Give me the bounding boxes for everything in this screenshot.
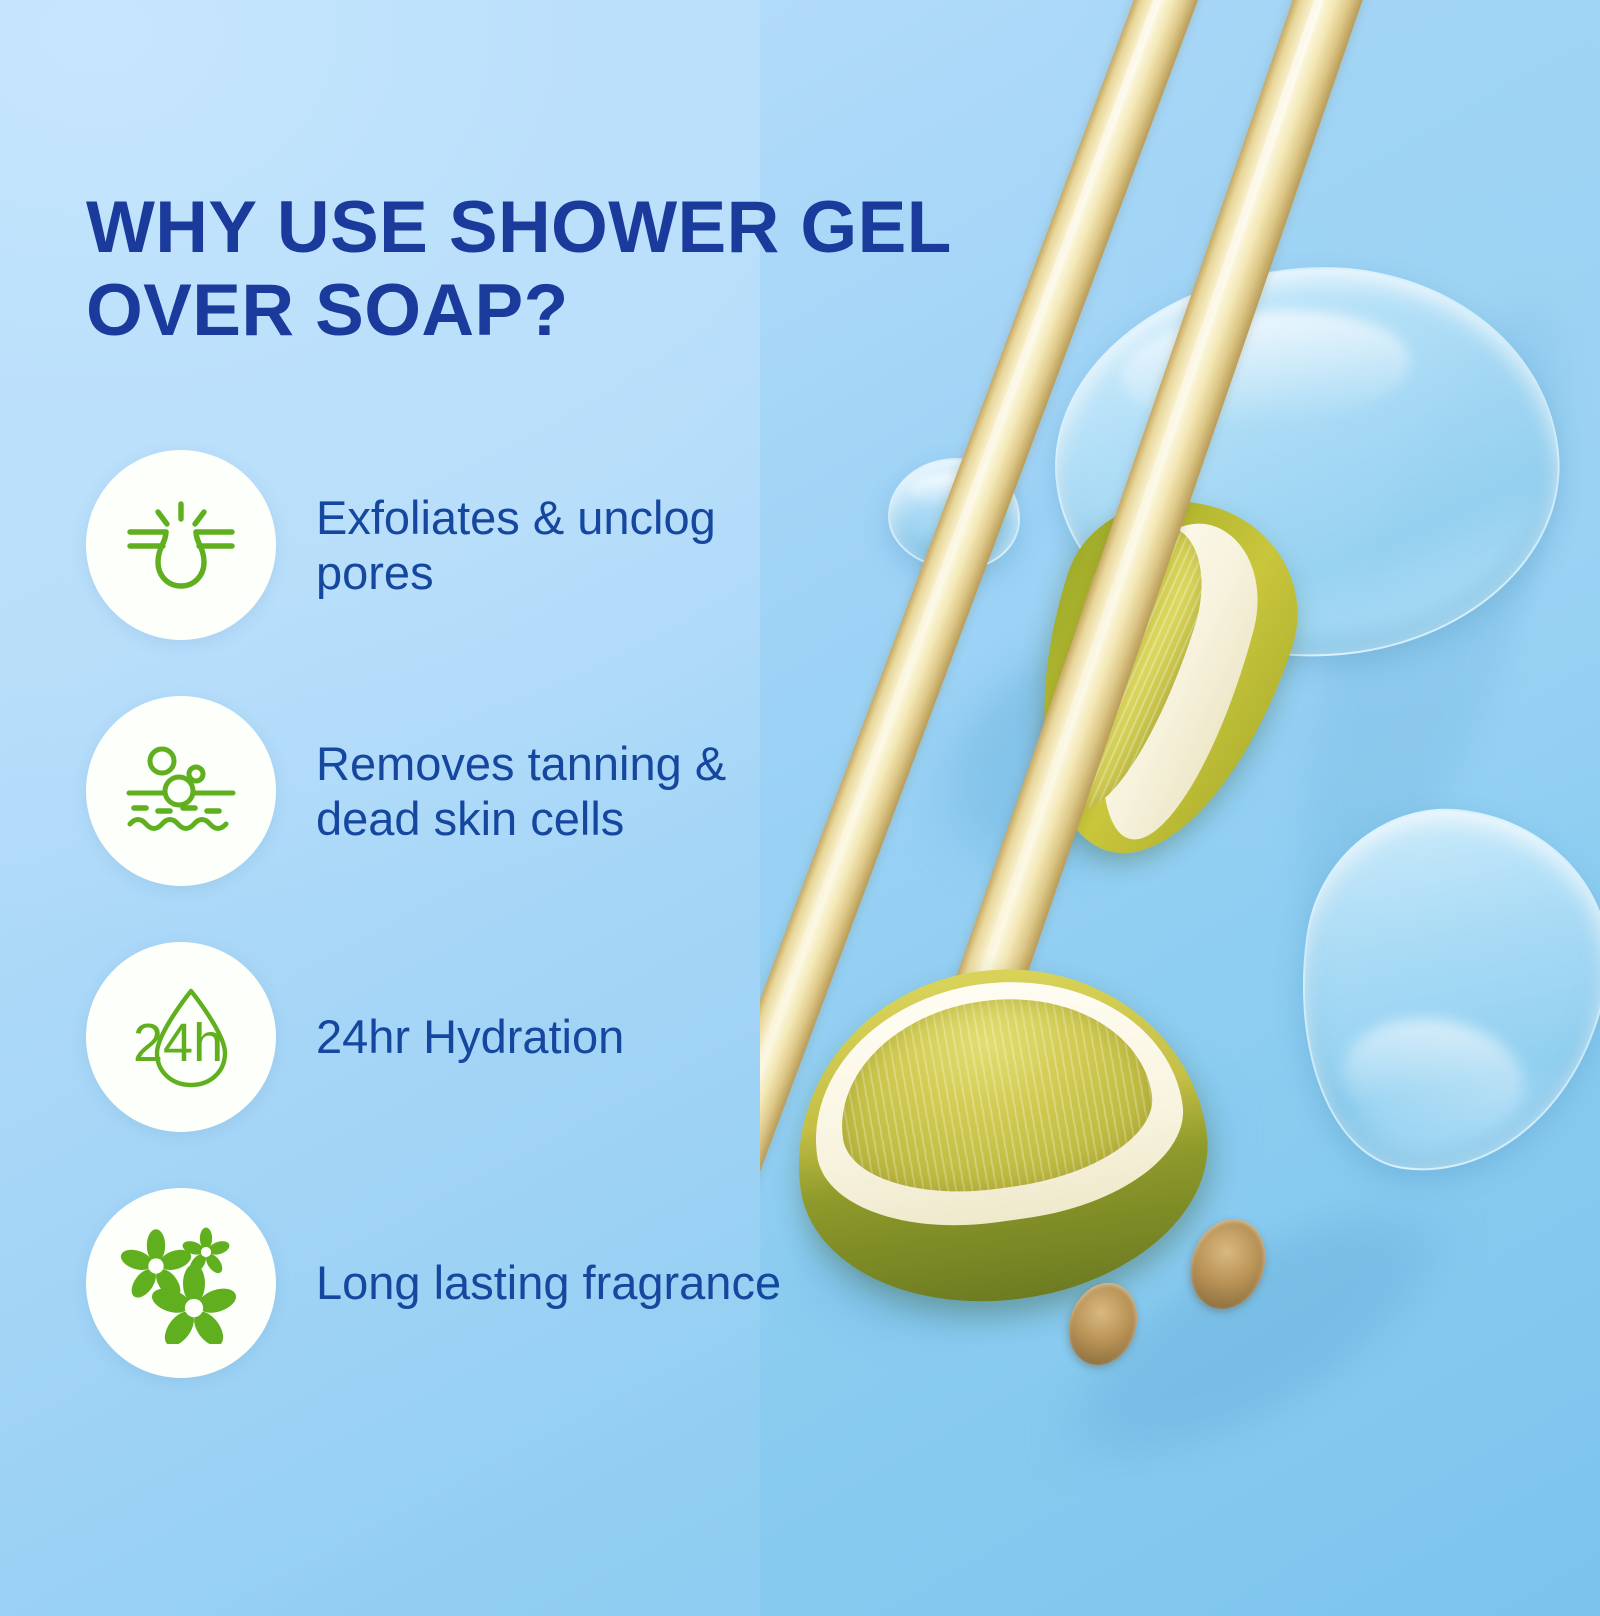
icon-badge xyxy=(86,696,276,886)
headline-line-2: OVER SOAP? xyxy=(86,269,1066,352)
benefit-item-fragrance: Long lasting fragrance xyxy=(86,1188,786,1378)
icon-badge: 24h xyxy=(86,942,276,1132)
page-title: WHY USE SHOWER GEL OVER SOAP? xyxy=(86,186,1066,352)
icon-badge xyxy=(86,1188,276,1378)
lime-half-lower xyxy=(774,943,1226,1327)
infographic-canvas: WHY USE SHOWER GEL OVER SOAP? Exfoliates… xyxy=(0,0,1600,1616)
benefits-list: Exfoliates & unclog pores Removes tannin… xyxy=(86,450,786,1434)
benefit-label: Exfoliates & unclog pores xyxy=(316,490,786,601)
benefit-label: Removes tanning & dead skin cells xyxy=(316,736,786,847)
water-droplet-24h-icon: 24h xyxy=(119,975,243,1099)
dead-skin-cells-icon xyxy=(122,732,240,850)
icon-badge xyxy=(86,450,276,640)
benefit-label: Long lasting fragrance xyxy=(316,1255,781,1310)
benefit-item-removes-tanning: Removes tanning & dead skin cells xyxy=(86,696,786,886)
droplet-badge-text: 24h xyxy=(133,1013,223,1073)
flowers-fragrance-icon xyxy=(120,1222,242,1344)
pore-exfoliation-icon xyxy=(122,486,240,604)
headline-line-1: WHY USE SHOWER GEL xyxy=(86,187,952,268)
benefit-item-hydration: 24h 24hr Hydration xyxy=(86,942,786,1132)
benefit-item-exfoliates: Exfoliates & unclog pores xyxy=(86,450,786,640)
benefit-label: 24hr Hydration xyxy=(316,1009,624,1064)
